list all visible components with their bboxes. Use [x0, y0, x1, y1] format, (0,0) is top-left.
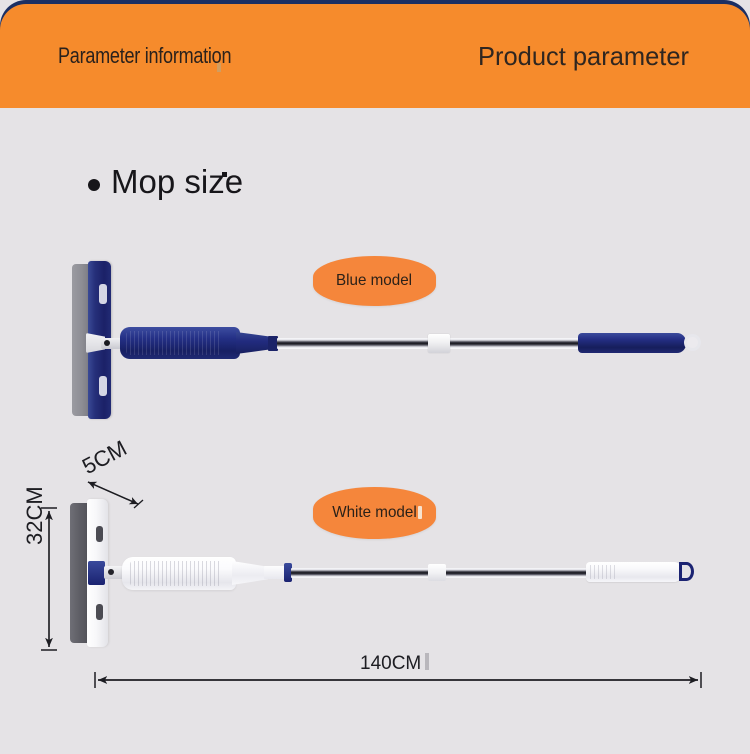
- white-mop-end-grip-ribs: [590, 565, 616, 579]
- header-orange-bar: Parameter information Product parameter: [0, 4, 750, 108]
- blue-mop-grip-taper: [236, 332, 272, 354]
- dimension-length-mark: [425, 653, 429, 670]
- blue-mop-hanging-loop: [684, 334, 701, 351]
- badge-blue-model: Blue model: [313, 256, 436, 306]
- white-mop-grip-taper: [232, 561, 268, 585]
- blue-mop-end-grip: [578, 333, 686, 353]
- white-mop-grip-neck: [264, 566, 286, 579]
- blue-mop-grip-ribs: [126, 331, 222, 355]
- dimension-height-arrow: [38, 505, 60, 653]
- badge-white-model-mark: [418, 506, 422, 519]
- badge-white-model-label: White model: [332, 504, 416, 522]
- badge-blue-model-label: Blue model: [336, 272, 412, 290]
- header-left-title-mark: [217, 63, 221, 72]
- dimension-depth-arrow: [82, 478, 144, 510]
- page-header: Parameter information Product parameter: [0, 0, 750, 108]
- dimension-length-arrow: [90, 670, 706, 690]
- white-mop-hanging-loop: [679, 562, 694, 581]
- white-mop-squeegee-blade: [70, 503, 88, 643]
- blue-mop-joint-pin: [104, 340, 110, 346]
- header-left-title: Parameter information: [58, 44, 231, 69]
- section-heading: Mop size: [88, 163, 243, 201]
- white-mop-pivot-bracket: [88, 561, 105, 585]
- section-heading-mark: [222, 172, 227, 177]
- header-right-title: Product parameter: [478, 41, 689, 72]
- white-mop-joint-pin: [108, 569, 114, 575]
- badge-white-model: White model: [313, 487, 436, 539]
- section-heading-label: Mop size: [111, 163, 243, 201]
- blue-mop-pole-collar: [428, 334, 450, 353]
- dimension-depth-label: 5CM: [78, 435, 131, 480]
- white-mop-grip-ribs: [130, 561, 222, 586]
- bullet-dot-icon: [88, 179, 100, 191]
- white-mop-pole-collar: [428, 564, 446, 581]
- white-mop-telescoping-pole: [291, 568, 601, 578]
